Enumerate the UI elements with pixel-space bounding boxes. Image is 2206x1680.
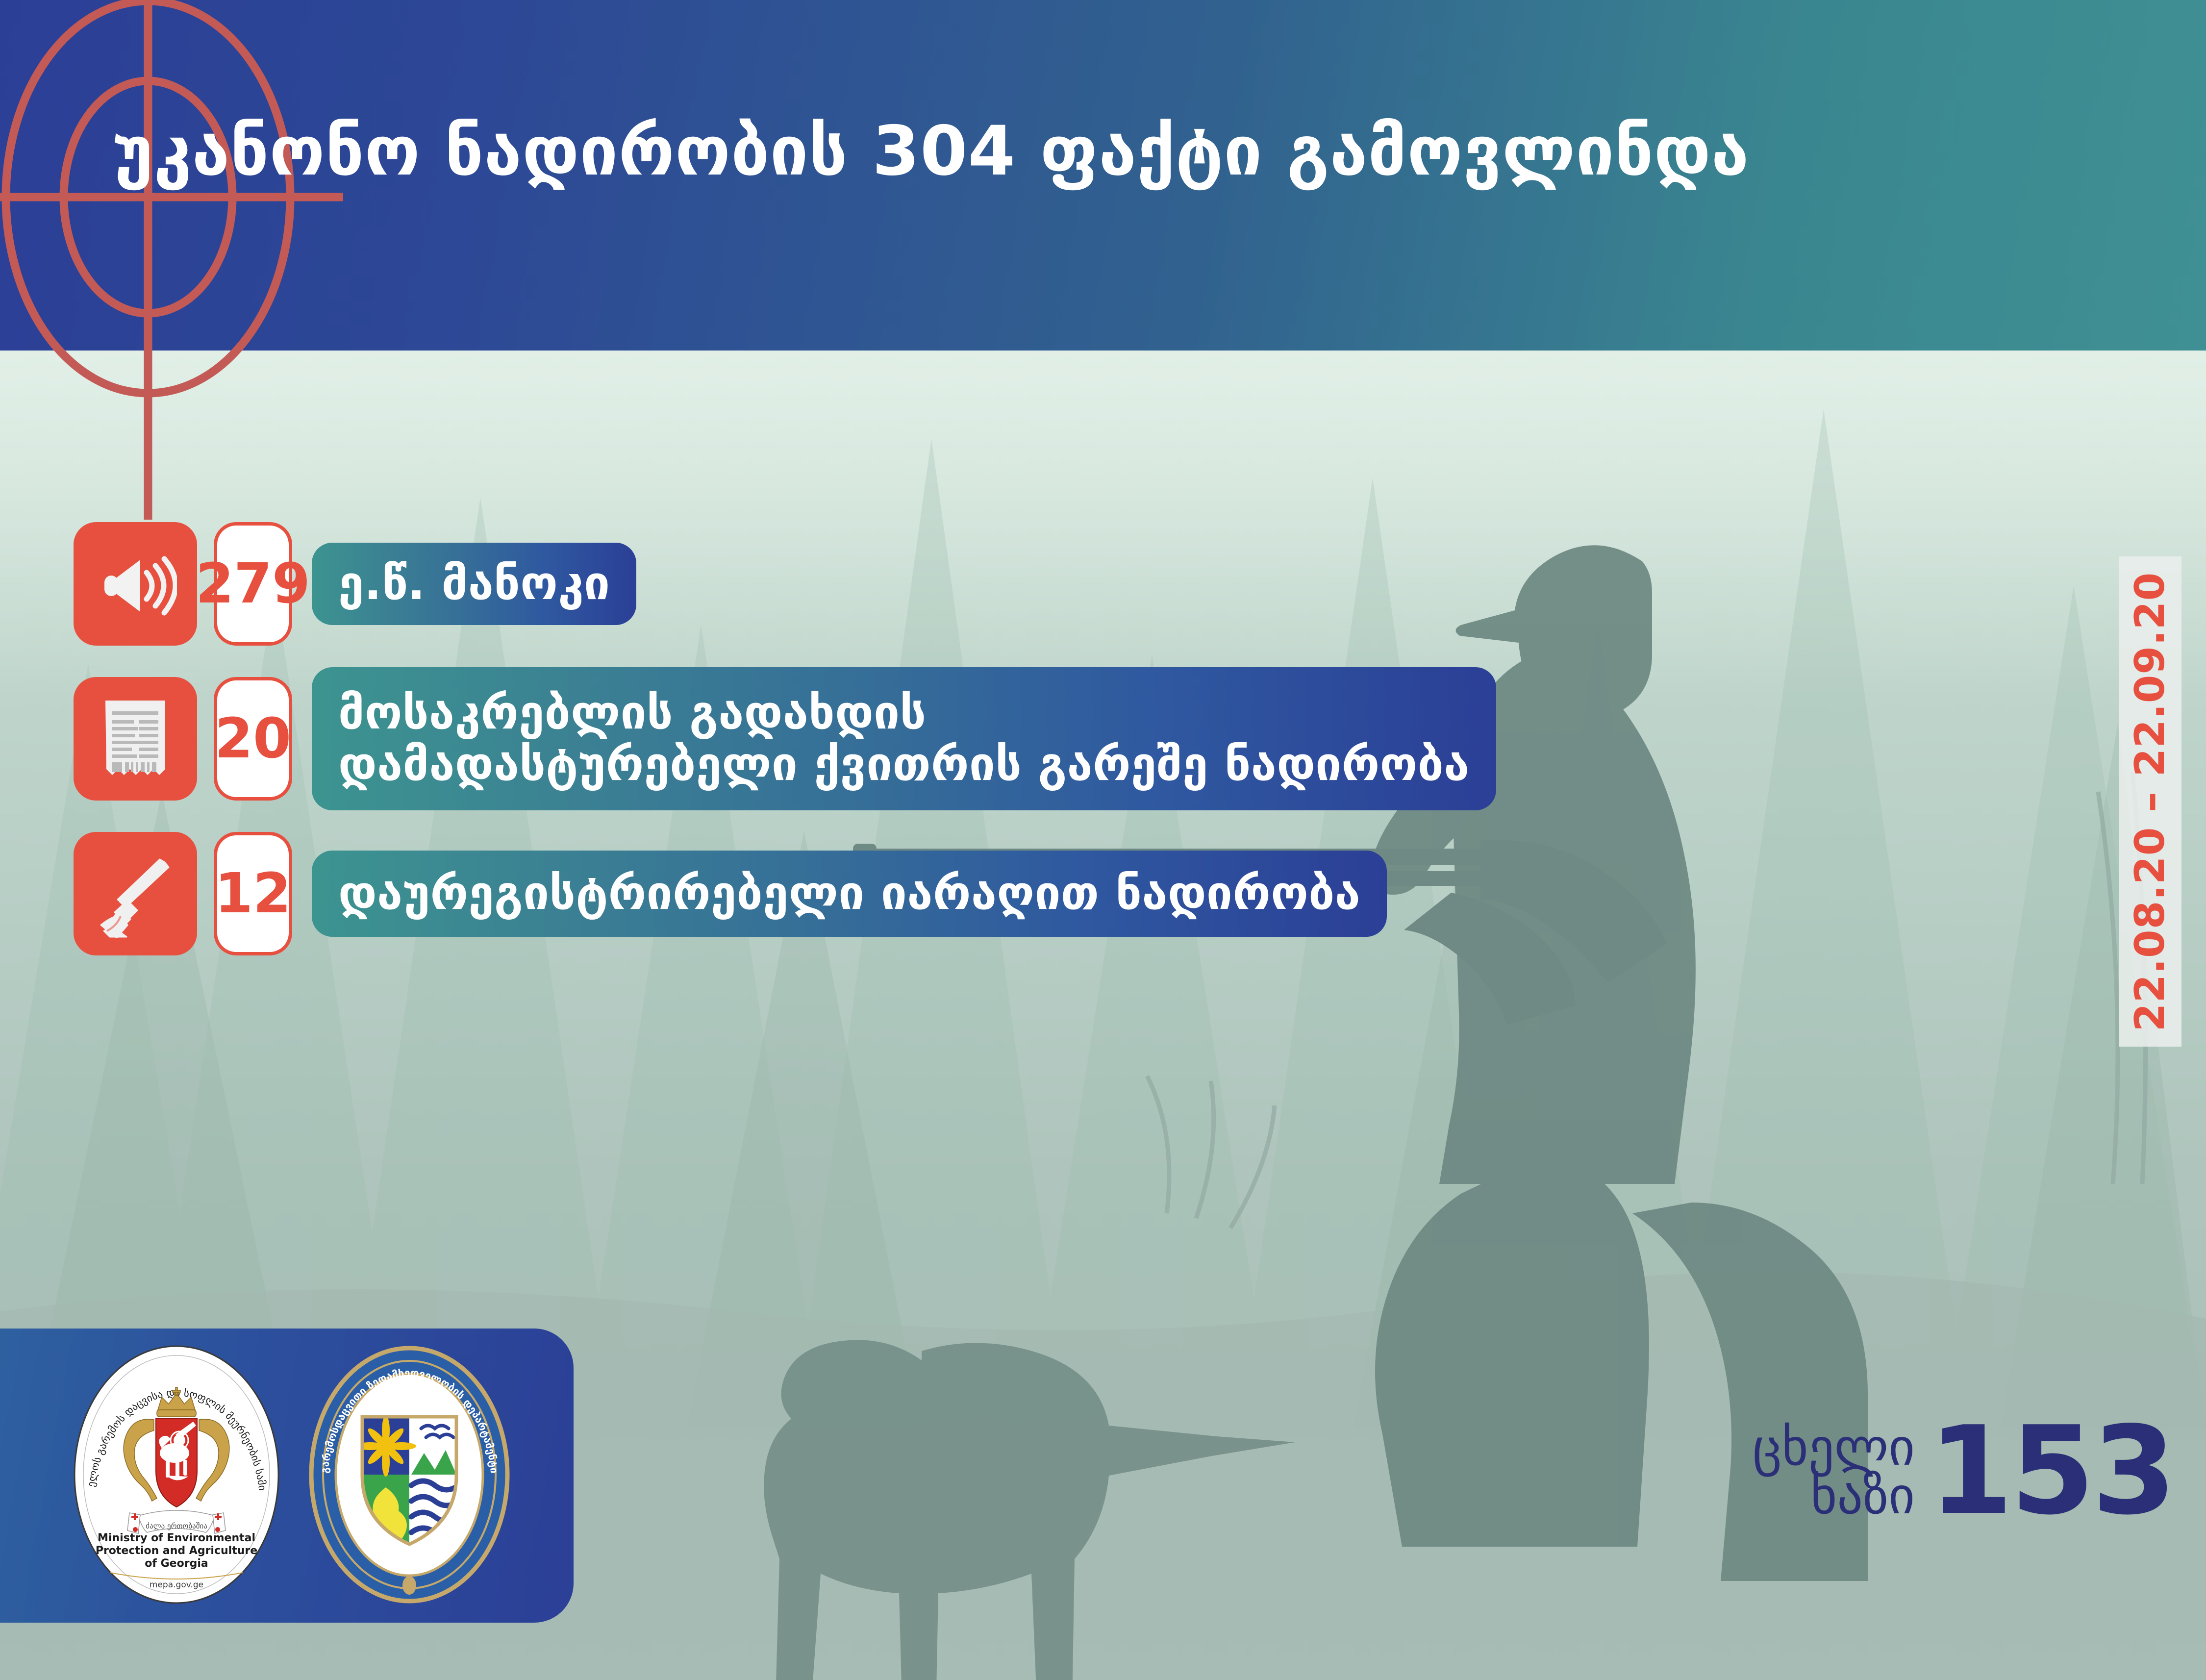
stat-label: ე.წ. მანოკი <box>338 558 610 609</box>
header-banner: უკანონო ნადირობის 304 ფაქტი გამოვლინდა <box>0 0 2206 351</box>
stat-count: 279 <box>214 522 292 646</box>
statistics-list: 279 ე.წ. მანოკი <box>74 522 2108 977</box>
date-range-text: 22.08.20 – 22.09.20 <box>2127 572 2174 1031</box>
rifle-icon <box>74 832 197 955</box>
date-range-badge: 22.08.20 – 22.09.20 <box>2119 556 2181 1047</box>
receipt-icon <box>74 677 197 801</box>
infographic-poster: უკანონო ნადირობის 304 ფაქტი გამოვლინდა <box>0 0 2206 1680</box>
stat-row: 279 ე.წ. მანოკი <box>74 522 2108 646</box>
stat-row: 20 მოსაკრებლის გადახდის დამადასტურებელი … <box>74 667 2108 810</box>
stat-count: 12 <box>214 832 292 955</box>
mepa-en-line3: of Georgia <box>145 1557 208 1570</box>
hotline-line-1: ცხელი <box>1753 1423 1915 1472</box>
environmental-supervision-department-emblem: გარემოსდაცვითი ზედამხედველობის დეპარტამე… <box>304 1342 515 1609</box>
stat-row: 12 დაურეგისტრირებელი იარაღით ნადირობა <box>74 832 2108 955</box>
stat-label-pill: მოსაკრებლის გადახდის დამადასტურებელი ქვი… <box>312 667 1496 810</box>
page-title: უკანონო ნადირობის 304 ფაქტი გამოვლინდა <box>113 116 2098 187</box>
stat-count: 20 <box>214 677 292 801</box>
megaphone-speaker-icon <box>74 522 197 646</box>
logo-panel: საქართველოს გარემოს დაცვისა და სოფლის მე… <box>0 1329 574 1623</box>
mepa-en-line1: Ministry of Environmental <box>98 1532 255 1544</box>
hotline-number: 153 <box>1929 1422 2174 1521</box>
stat-label: მოსაკრებლის გადახდის დამადასტურებელი ქვი… <box>338 687 1470 791</box>
mepa-website: mepa.gov.ge <box>150 1580 203 1590</box>
mepa-en-line2: Protection and Agriculture <box>96 1545 257 1557</box>
hotline-block: ცხელი ხაზი 153 <box>1753 1422 2174 1521</box>
mepa-motto: ძალა ერთობაშია <box>146 1522 207 1530</box>
stat-label: დაურეგისტრირებელი იარაღით ნადირობა <box>338 868 1360 919</box>
ministry-of-environmental-protection-and-agriculture-of-georgia-emblem: საქართველოს გარემოს დაცვისა და სოფლის მე… <box>71 1342 282 1609</box>
stat-label-pill: დაურეგისტრირებელი იარაღით ნადირობა <box>312 851 1387 937</box>
stat-label-pill: ე.წ. მანოკი <box>312 543 636 625</box>
hotline-line-2: ხაზი <box>1753 1472 1915 1520</box>
hotline-label: ცხელი ხაზი <box>1753 1423 1915 1520</box>
